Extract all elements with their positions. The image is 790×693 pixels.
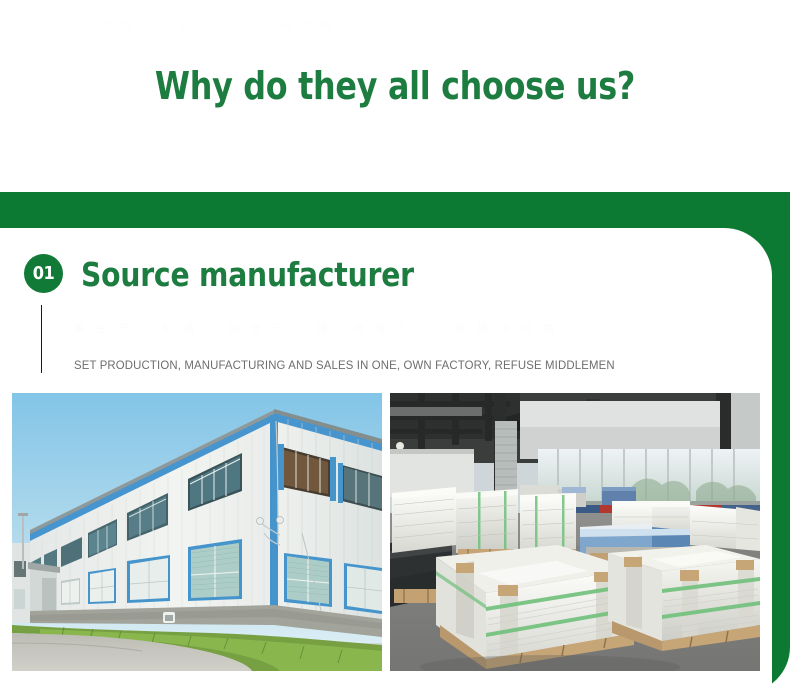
factory-exterior-photo [12,393,382,671]
section-description: SET PRODUCTION, MANUFACTURING AND SALES … [74,360,615,372]
section-number-badge: 01 [24,254,63,293]
green-top-band [0,192,790,228]
promo-page: 优 质 产 品 源 头 工 厂 值 得 信 赖 Why do they all … [0,0,790,693]
warehouse-interior-photo [390,393,760,671]
page-title: Why do they all choose us? [28,64,763,108]
photo-row [12,393,760,671]
section-divider-rule [41,305,42,373]
section-title: Source manufacturer [81,255,414,294]
header-watermark-text: 优 质 产 品 源 头 工 厂 值 得 信 赖 [100,17,660,33]
header-zone: 优 质 产 品 源 头 工 厂 值 得 信 赖 Why do they all … [0,0,790,192]
section-description-secondary: 集 生 产 、 制 造 、 销 售 于 一 体 , 自 有 工 厂 , 拒 绝 … [74,320,558,336]
